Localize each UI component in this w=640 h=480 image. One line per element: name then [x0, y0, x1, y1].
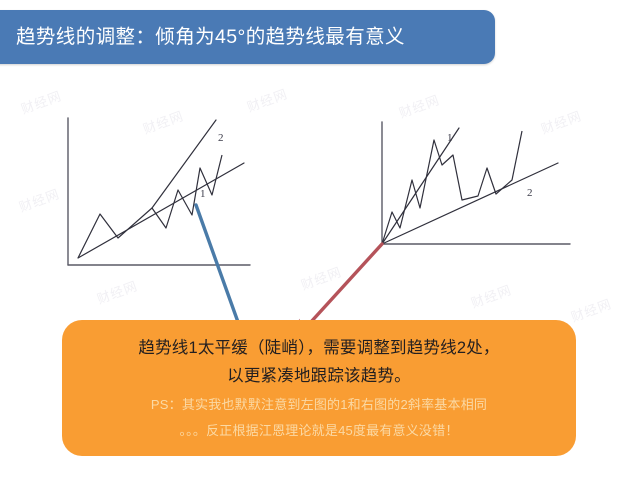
callout-ps-line-1: PS：其实我也默默注意到左图的1和右图的2斜率基本相同 [62, 394, 576, 413]
trendline-number-label: 1 [447, 132, 453, 144]
trendline-number-label: 2 [218, 132, 224, 144]
price-zigzag [382, 131, 522, 244]
blue-arrow [196, 205, 243, 336]
callout-line-1: 趋势线1太平缓（陡峭），需要调整到趋势线2处， [62, 334, 576, 358]
arrows-group [196, 205, 382, 336]
callout-box: 趋势线1太平缓（陡峭），需要调整到趋势线2处， 以更紧凑地跟踪该趋势。 PS：其… [62, 320, 576, 456]
trendline-number-label: 2 [527, 187, 533, 199]
charts-group [68, 118, 570, 265]
price-zigzag [78, 155, 222, 258]
right-chart [382, 122, 570, 244]
trendline-1 [78, 163, 244, 258]
slide-page: 财经网财经网财经网财经网财经网财经网财经网财经网财经网财经网 趋势线的调整：倾角… [0, 0, 640, 480]
callout-ps-line-2: 。。。反正根据江恩理论就是45度最有意义没错！ [62, 420, 576, 439]
trendline-2 [152, 120, 216, 208]
callout-line-2: 以更紧凑地跟踪该趋势。 [62, 362, 576, 386]
trendline-number-label: 1 [200, 188, 206, 200]
